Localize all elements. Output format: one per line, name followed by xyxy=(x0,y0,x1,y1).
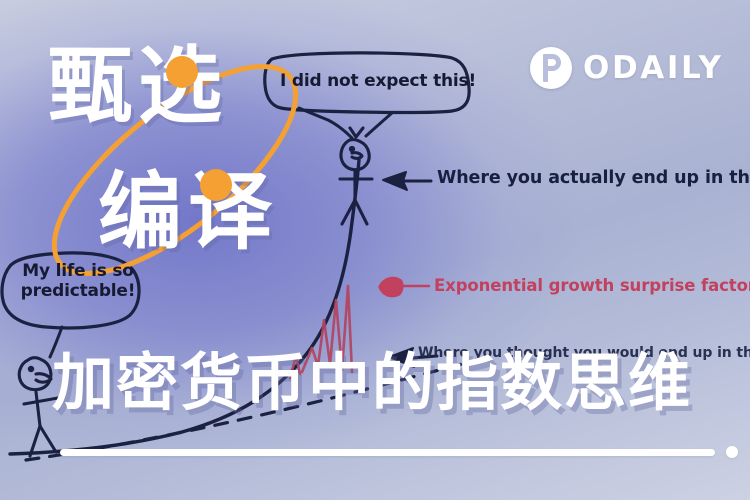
bottom-rule-dot xyxy=(726,446,738,458)
odaily-mark-icon xyxy=(530,47,572,89)
poster-canvas: 甄选 编译 I did not expect this! My life is … xyxy=(0,0,750,500)
orbit-dot-2 xyxy=(200,169,232,201)
odaily-wordmark: ODAILY xyxy=(583,53,724,84)
speech-bubble-left-line2: predictable! xyxy=(14,282,142,302)
speech-bubble-left-line1: My life is so xyxy=(14,262,142,282)
annotation-exponential-surprise: Exponential growth surprise factor xyxy=(434,278,750,295)
odaily-logo: ODAILY xyxy=(530,47,724,89)
bottom-rule xyxy=(60,449,715,456)
odaily-mark-bowl xyxy=(544,54,561,71)
page-title: 加密货币中的指数思维 xyxy=(52,352,692,414)
annotation-actual-future: Where you actually end up in the future xyxy=(437,170,750,188)
speech-bubble-top-text: I did not expect this! xyxy=(280,72,476,92)
speech-bubble-left-text: My life is so predictable! xyxy=(14,262,142,301)
orbit-dot-1 xyxy=(166,56,198,88)
